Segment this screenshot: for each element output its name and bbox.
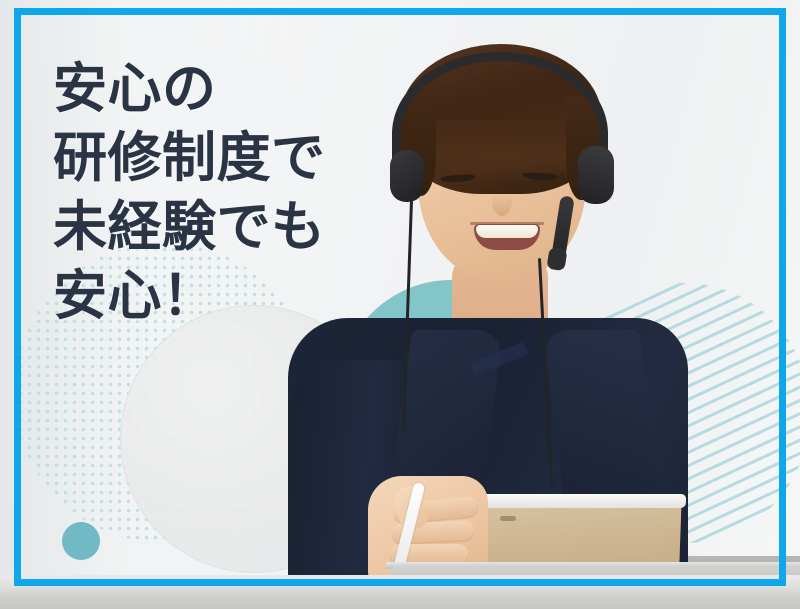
smiling-mouth [474,224,540,250]
upper-lip [470,222,544,225]
desk-surface [0,575,800,609]
headline-line-2: 研修制度で [53,124,383,193]
recruitment-hero-banner: 安心の 研修制度で 未経験でも 安心！ [0,0,800,609]
headline-line-1: 安心の [53,55,383,124]
headset-earcup-left [390,150,424,202]
teeth [476,225,538,238]
tablet-camera [500,516,516,521]
nose [492,186,512,216]
headline-line-3: 未経験でも [53,193,383,262]
headline-line-4: 安心！ [53,262,383,331]
headset-earcup-right [578,146,614,204]
headline-text: 安心の 研修制度で 未経験でも 安心！ [53,55,383,331]
headset-microphone-icon [546,247,567,272]
